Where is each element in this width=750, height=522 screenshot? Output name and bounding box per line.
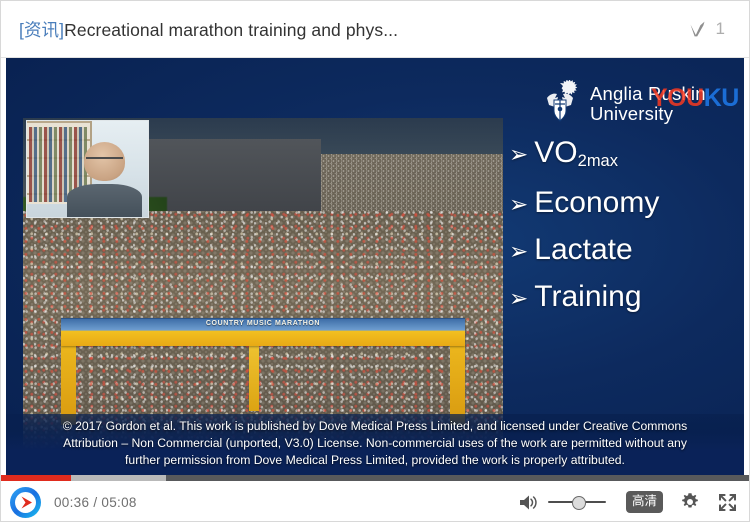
photo-finish-arch: COUNTRY MUSIC MARATHON	[61, 318, 464, 346]
bullet-label: VO2max	[534, 136, 618, 174]
copyright-line-3: further permission from Dove Medical Pre…	[14, 452, 736, 469]
copyright-line-2: Attribution – Non Commercial (unported, …	[14, 435, 736, 452]
play-icon[interactable]	[9, 486, 42, 519]
volume-slider-handle[interactable]	[572, 496, 586, 510]
copyright-notice: © 2017 Gordon et al. This work is publis…	[6, 414, 744, 475]
header-right-group: 1	[688, 19, 737, 39]
webcam-overlay	[26, 120, 149, 218]
quality-badge[interactable]: 高清	[626, 491, 663, 513]
player-controls: 00:36 / 05:08 高清	[1, 481, 750, 522]
gear-icon[interactable]	[680, 492, 700, 512]
university-name: Anglia Ruskin University	[590, 84, 706, 124]
bullet-item: ➢ Economy	[509, 186, 739, 221]
bullet-item: ➢ VO2max	[509, 136, 739, 174]
bullet-item: ➢ Lactate	[509, 233, 739, 268]
copyright-line-1: © 2017 Gordon et al. This work is publis…	[14, 418, 736, 435]
fullscreen-icon[interactable]	[718, 493, 737, 512]
bullet-marker-icon: ➢	[509, 281, 528, 315]
bullet-marker-icon: ➢	[509, 234, 528, 268]
volume-slider[interactable]	[548, 493, 606, 511]
bullet-label: Training	[534, 280, 641, 314]
slide-bullet-list: ➢ VO2max ➢ Economy ➢ Lactate ➢ Training	[509, 136, 739, 327]
video-player-stage[interactable]: COUNTRY MUSIC MARATHON	[6, 58, 744, 475]
photo-banner-text: COUNTRY MUSIC MARATHON	[61, 320, 464, 327]
bullet-label: Economy	[534, 186, 659, 220]
bullet-label: Lactate	[534, 233, 632, 267]
university-crest-icon	[539, 80, 581, 128]
video-page: [资讯]Recreational marathon training and p…	[0, 0, 750, 522]
webcam-person-glasses	[86, 157, 122, 166]
webcam-person-torso	[67, 184, 142, 217]
university-logo: Anglia Ruskin University	[539, 80, 706, 128]
right-controls: 高清	[519, 491, 737, 513]
university-name-line1: Anglia Ruskin	[590, 83, 706, 104]
time-display: 00:36 / 05:08	[54, 495, 137, 510]
volume-icon[interactable]	[519, 494, 538, 511]
bullet-marker-icon: ➢	[509, 137, 528, 171]
title-text: Recreational marathon training and phys.…	[64, 20, 398, 40]
bullet-subscript: 2max	[578, 152, 618, 170]
check-count: 1	[716, 19, 725, 39]
check-icon[interactable]	[688, 19, 708, 39]
bullet-marker-icon: ➢	[509, 187, 528, 221]
bullet-item: ➢ Training	[509, 280, 739, 315]
title-category-tag[interactable]: [资讯]	[19, 20, 64, 40]
page-header: [资讯]Recreational marathon training and p…	[1, 1, 750, 58]
university-name-line2: University	[590, 104, 706, 124]
page-title: [资讯]Recreational marathon training and p…	[19, 17, 688, 42]
